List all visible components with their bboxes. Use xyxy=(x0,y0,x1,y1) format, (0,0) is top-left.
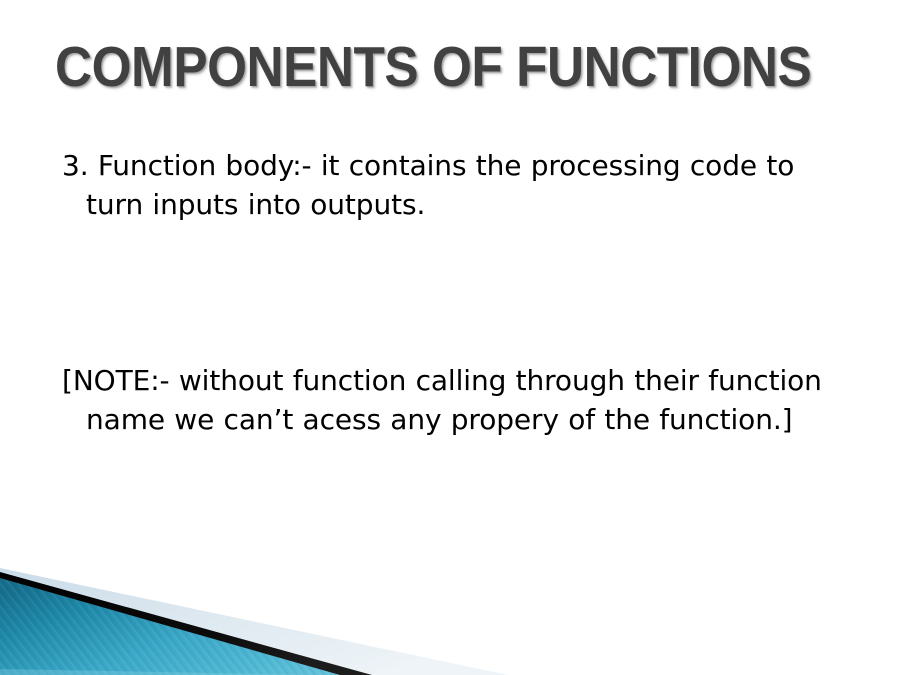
slide-body: 3. Function body:- it contains the proce… xyxy=(62,146,852,439)
decor-teal-highlight xyxy=(0,669,318,675)
presentation-slide: COMPONENTS OF FUNCTIONS 3. Function body… xyxy=(0,0,900,675)
diagonal-bands-graphic xyxy=(0,550,560,675)
decor-band-black xyxy=(0,572,372,675)
decor-band-pale-blue xyxy=(0,568,508,675)
body-note: [NOTE:- without function calling through… xyxy=(62,361,852,439)
corner-decoration xyxy=(0,550,560,675)
decor-band-teal-texture xyxy=(0,578,340,675)
page-title: COMPONENTS OF FUNCTIONS xyxy=(55,38,775,98)
decor-band-teal xyxy=(0,578,340,675)
body-point-3: 3. Function body:- it contains the proce… xyxy=(62,146,852,224)
